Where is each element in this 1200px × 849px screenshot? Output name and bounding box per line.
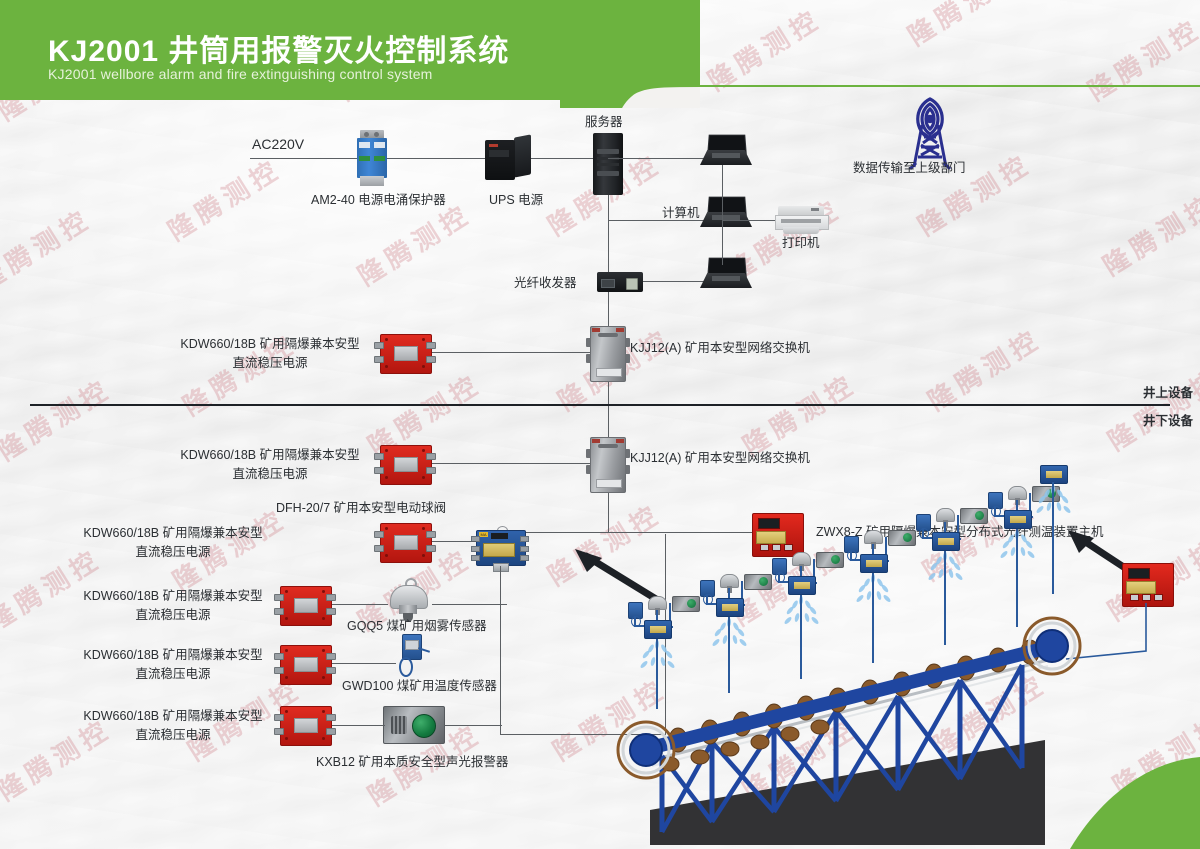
mine-network-switch-icon (590, 326, 626, 382)
surface-power-supply-label-line2: 直流稳压电源 (175, 355, 365, 372)
node-valve-icon (788, 576, 816, 595)
server-label: 服务器 (585, 114, 623, 131)
header-curve-decoration (560, 0, 700, 108)
diagram-canvas: 隆腾测控 隆腾测控 隆腾测控 隆腾测控 隆腾测控 隆腾测控 隆腾测控 隆腾测控 … (0, 0, 1200, 849)
node-smoke-sensor-icon (936, 508, 955, 522)
node-valve-icon (644, 620, 672, 639)
node-smoke-sensor-icon (1008, 486, 1027, 500)
laptop-icon (700, 134, 752, 168)
ups-label: UPS 电源 (489, 192, 543, 209)
server-tower-icon (593, 133, 623, 195)
surface-underground-divider (30, 404, 1170, 406)
watermark-text: 隆腾测控 (1100, 359, 1200, 458)
uplink-label: 数据传输至上级部门 (853, 160, 966, 177)
ac-power-label: AC220V (252, 136, 304, 153)
node-smoke-sensor-icon (720, 574, 739, 588)
watermark-text: 隆腾测控 (735, 364, 863, 463)
printer-icon (775, 206, 827, 238)
watermark-text: 隆腾测控 (900, 0, 1028, 53)
surface-power-link-line (432, 352, 590, 353)
explosion-proof-power-supply-icon (274, 645, 336, 683)
watermark-text: 隆腾测控 (0, 199, 98, 298)
node-alarm-icon (816, 552, 844, 568)
explosion-proof-power-supply-icon (374, 445, 436, 483)
temperature-sensor-icon (388, 632, 432, 678)
laptop-chain-line (722, 165, 723, 265)
sound-light-alarm-icon (383, 706, 445, 744)
node-alarm-icon (744, 574, 772, 590)
surge-protector-icon (357, 130, 387, 186)
watermark-text: 隆腾测控 (0, 369, 118, 468)
underground-power-link-line (432, 463, 590, 464)
node-smoke-sensor-icon (648, 596, 667, 610)
node-smoke-sensor-icon (864, 530, 883, 544)
header-accent-line (680, 85, 1200, 87)
alarm-link-line (444, 725, 502, 726)
underground-power-supply-label-line1: KDW660/18B 矿用隔爆兼本安型 (175, 447, 365, 464)
ups-icon (485, 136, 531, 180)
computer-label: 计算机 (662, 205, 700, 222)
fiber-transceiver-icon (597, 270, 643, 294)
mine-network-switch-icon (590, 437, 626, 493)
laptop-icon (700, 196, 752, 230)
device-column-riser (500, 566, 501, 734)
alarm-label: KXB12 矿用本质安全型声光报警器 (316, 754, 508, 771)
explosion-proof-power-supply-icon (374, 523, 436, 561)
explosion-proof-power-supply-icon (274, 586, 336, 624)
underground-distribution-line (500, 532, 776, 533)
node-alarm-icon (960, 508, 988, 524)
smoke-sensor-power-line (332, 604, 388, 605)
laptop-line-1 (608, 158, 708, 159)
valve-power-line (432, 541, 476, 542)
fiber-transceiver-label: 光纤收发器 (514, 275, 577, 292)
power-supply-3-label-line2: 直流稳压电源 (78, 607, 268, 624)
temperature-sensor-label: GWD100 煤矿用温度传感器 (342, 678, 497, 695)
node-smoke-sensor-icon (792, 552, 811, 566)
page-title: KJ2001 井筒用报警灭火控制系统 (48, 26, 509, 70)
page-subtitle: KJ2001 wellbore alarm and fire extinguis… (48, 66, 433, 82)
underground-bus-line (608, 493, 609, 533)
underground-power-supply-label-line2: 直流稳压电源 (175, 466, 365, 483)
node-valve-icon (860, 554, 888, 573)
printer-label: 打印机 (782, 235, 820, 252)
power-supply-2-label-line1: KDW660/18B 矿用隔爆兼本安型 (78, 525, 268, 542)
power-supply-5-label-line1: KDW660/18B 矿用隔爆兼本安型 (78, 708, 268, 725)
temperature-sensor-power-line (332, 663, 396, 664)
power-supply-3-label-line1: KDW660/18B 矿用隔爆兼本安型 (78, 588, 268, 605)
surface-power-supply-label-line1: KDW660/18B 矿用隔爆兼本安型 (175, 336, 365, 353)
surge-protector-label: AM2-40 电源电涌保护器 (311, 192, 446, 209)
watermark-text: 隆腾测控 (160, 149, 288, 248)
surface-switch-label: KJJ12(A) 矿用本安型网络交换机 (630, 340, 810, 357)
laptop-icon (700, 257, 752, 291)
watermark-text: 隆腾测控 (1095, 184, 1200, 283)
node-alarm-icon (888, 530, 916, 546)
power-supply-4-label-line2: 直流稳压电源 (78, 666, 268, 683)
valve-label: DFH-20/7 矿用本安型电动球阀 (276, 500, 446, 517)
ac-bus-line (250, 158, 605, 159)
power-supply-2-label-line2: 直流稳压电源 (78, 544, 268, 561)
node-valve-icon (1040, 465, 1068, 484)
node-alarm-icon (672, 596, 700, 612)
node-valve-icon (932, 532, 960, 551)
field-node-group (1040, 455, 1114, 541)
electric-ball-valve-icon: MA (471, 526, 529, 566)
watermark-text: 隆腾测控 (1080, 9, 1200, 108)
explosion-proof-power-supply-icon (274, 706, 336, 744)
power-supply-5-label-line2: 直流稳压电源 (78, 727, 268, 744)
printer-link-line (722, 220, 777, 221)
underground-switch-label: KJJ12(A) 矿用本安型网络交换机 (630, 450, 810, 467)
smoke-sensor-line (432, 604, 507, 605)
watermark-text: 隆腾测控 (700, 0, 828, 98)
alarm-power-line (332, 725, 385, 726)
power-supply-4-label-line1: KDW660/18B 矿用隔爆兼本安型 (78, 647, 268, 664)
explosion-proof-power-supply-icon (374, 334, 436, 372)
node-valve-icon (1004, 510, 1032, 529)
node-valve-icon (716, 598, 744, 617)
surface-section-label: 井上设备 (1143, 385, 1193, 402)
underground-section-label: 井下设备 (1143, 413, 1193, 430)
